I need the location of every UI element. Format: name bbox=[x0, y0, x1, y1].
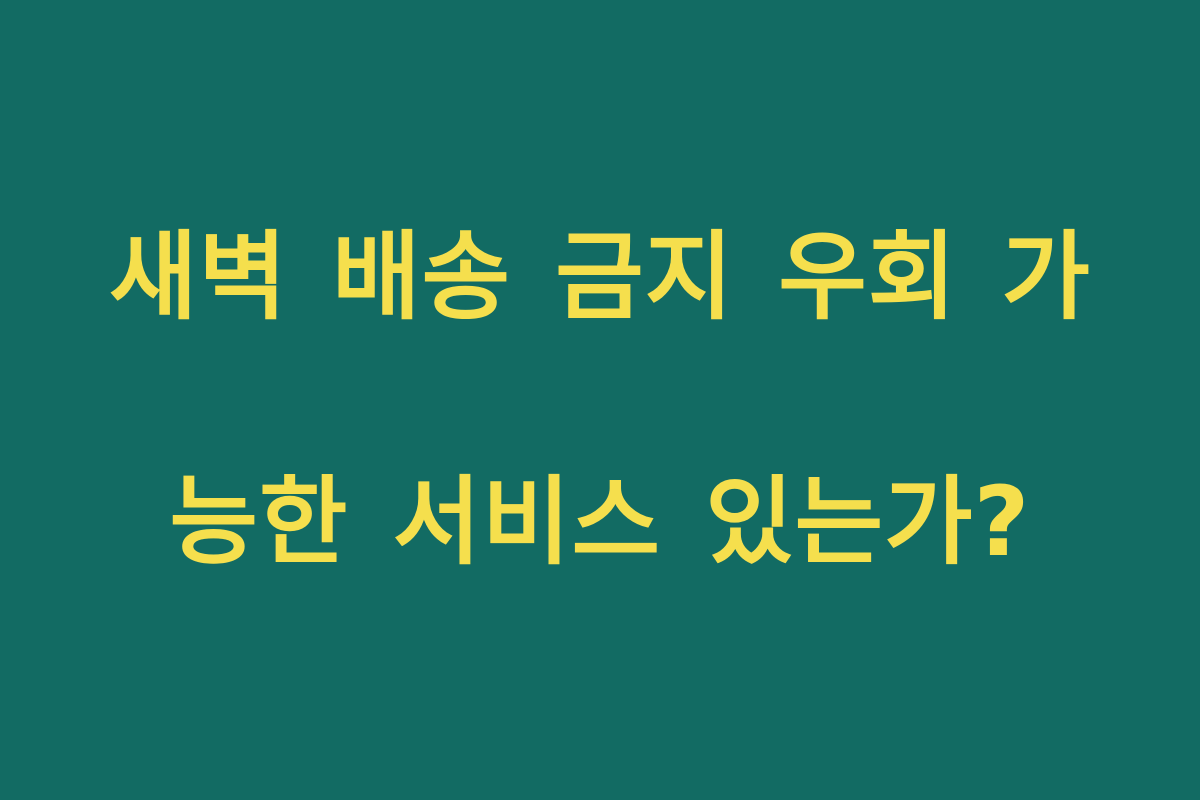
headline-line-1: 새벽 배송 금지 우회 가 bbox=[100, 216, 1100, 339]
headline-line-2: 능한 서비스 있는가? bbox=[100, 461, 1100, 584]
page-title: 새벽 배송 금지 우회 가 능한 서비스 있는가? bbox=[100, 93, 1100, 707]
banner-canvas: 새벽 배송 금지 우회 가 능한 서비스 있는가? bbox=[0, 0, 1200, 800]
